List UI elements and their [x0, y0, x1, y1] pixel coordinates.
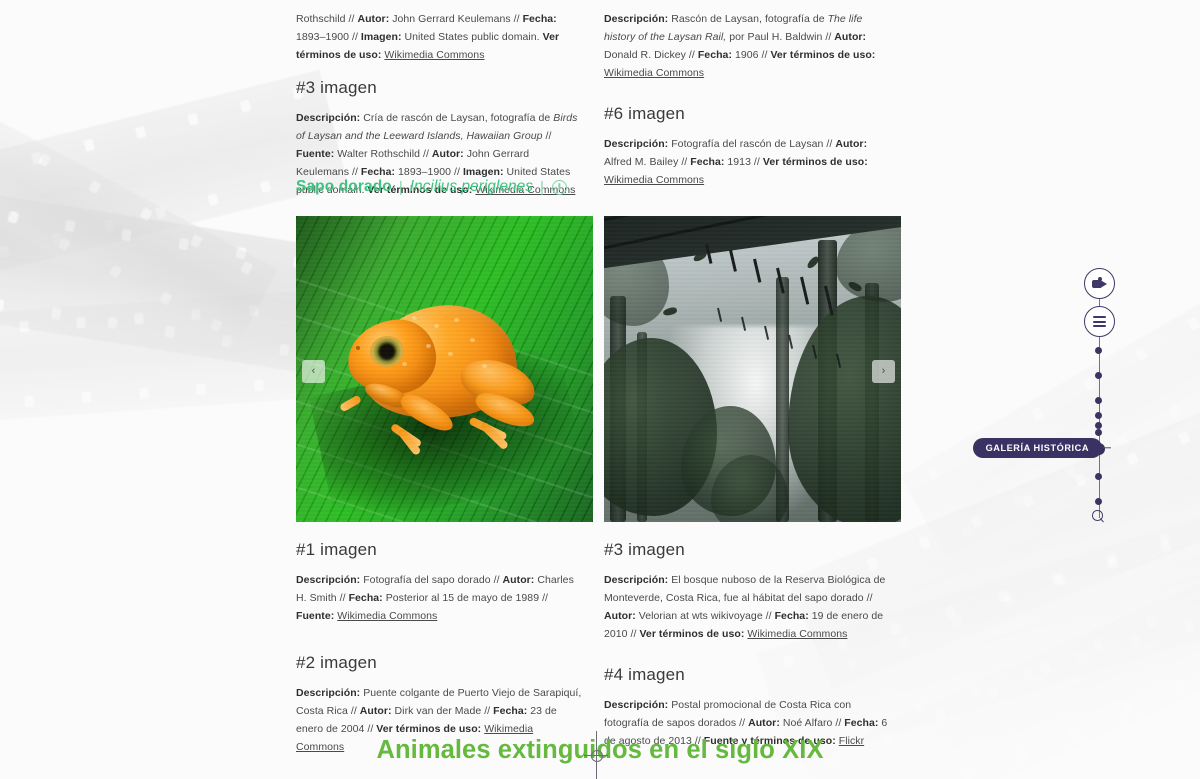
- autor-label: Autor:: [357, 13, 389, 25]
- filmstrip-shape: [0, 81, 278, 350]
- autor-label: Autor:: [503, 574, 535, 586]
- descripcion-label: Descripción:: [296, 687, 360, 699]
- descripcion-label: Descripción:: [296, 574, 360, 586]
- fecha-label: Fecha:: [361, 166, 395, 178]
- timeline-dot[interactable]: [1095, 429, 1102, 436]
- timeline-dot[interactable]: [1095, 372, 1102, 379]
- heading-separator: |: [540, 179, 544, 196]
- imagen-label: Imagen:: [463, 166, 504, 178]
- autor-label: Autor:: [432, 148, 464, 160]
- fecha-label: Fecha:: [523, 13, 557, 25]
- image-heading: #3 imagen: [604, 540, 890, 560]
- top-caption-column-right: Descripción: Rascón de Laysan, fotografí…: [604, 10, 890, 203]
- info-circle-icon[interactable]: [552, 180, 567, 195]
- timeline-navigation: GALERÍA HISTÓRICA: [1046, 268, 1156, 518]
- caption-image-1: Descripción: Fotografía del sapo dorado …: [296, 571, 582, 625]
- imagen-label: Imagen:: [361, 31, 402, 43]
- menu-button[interactable]: [1084, 306, 1115, 337]
- image-heading: #2 imagen: [296, 653, 582, 673]
- timeline-dot[interactable]: [1095, 473, 1102, 480]
- caption-image-3: Descripción: El bosque nuboso de la Rese…: [604, 571, 890, 643]
- descripcion-label: Descripción:: [604, 138, 668, 150]
- wikimedia-commons-link[interactable]: Wikimedia Commons: [604, 67, 704, 79]
- autor-label: Autor:: [604, 610, 636, 622]
- image-heading: #6 imagen: [604, 104, 890, 124]
- image-heading: #4 imagen: [604, 665, 890, 685]
- wikimedia-commons-link[interactable]: Wikimedia Commons: [337, 610, 437, 622]
- hamburger-menu-icon: [1093, 316, 1106, 326]
- image-carousel: ‹: [296, 216, 906, 522]
- image-heading: #3 imagen: [296, 78, 582, 98]
- video-camera-icon: [1092, 279, 1107, 289]
- terminos-label: Ver términos de uso:: [763, 156, 868, 168]
- carousel-next-button[interactable]: ›: [872, 360, 895, 383]
- species-scientific-name: Incilius periglenes: [410, 178, 533, 196]
- golden-toad-photo: [296, 216, 593, 522]
- bottom-caption-column-right: #3 imagen Descripción: El bosque nuboso …: [604, 540, 890, 764]
- timeline-dot[interactable]: [1095, 397, 1102, 404]
- carousel-slide-cloud-forest[interactable]: ›: [604, 216, 901, 522]
- caption-image-6: Descripción: Fotografía del rascón de La…: [604, 135, 890, 189]
- top-caption-columns: Rothschild // Autor: John Gerrard Keulem…: [296, 10, 906, 150]
- autor-label: Autor:: [835, 138, 867, 150]
- caption-continued: Rothschild // Autor: John Gerrard Keulem…: [296, 10, 582, 64]
- fecha-label: Fecha:: [690, 156, 724, 168]
- descripcion-label: Descripción:: [604, 574, 668, 586]
- species-heading: Sapo dorado | Incilius periglenes |: [296, 178, 567, 196]
- carousel-slide-golden-toad[interactable]: ‹: [296, 216, 593, 522]
- bottom-caption-columns: #1 imagen Descripción: Fotografía del sa…: [296, 540, 906, 700]
- wikimedia-commons-link[interactable]: Wikimedia Commons: [384, 49, 484, 61]
- fecha-label: Fecha:: [844, 717, 878, 729]
- autor-label: Autor:: [360, 705, 392, 717]
- terminos-label: Ver términos de uso:: [376, 723, 481, 735]
- terminos-label: Ver términos de uso:: [639, 628, 744, 640]
- fuente-label: Fuente:: [296, 610, 334, 622]
- fecha-label: Fecha:: [493, 705, 527, 717]
- timeline-dot[interactable]: [1095, 498, 1102, 505]
- fecha-label: Fecha:: [775, 610, 809, 622]
- descripcion-label: Descripción:: [604, 699, 668, 711]
- autor-label: Autor:: [748, 717, 780, 729]
- fuente-label: Fuente:: [296, 148, 334, 160]
- video-camera-button[interactable]: [1084, 268, 1115, 299]
- autor-label: Autor:: [834, 31, 866, 43]
- toad-figure: [342, 290, 552, 460]
- heading-separator: |: [399, 179, 403, 196]
- wikimedia-commons-link[interactable]: Wikimedia Commons: [747, 628, 847, 640]
- wikimedia-commons-link[interactable]: Wikimedia Commons: [604, 174, 704, 186]
- timeline-active-label[interactable]: GALERÍA HISTÓRICA: [973, 438, 1102, 458]
- fecha-label: Fecha:: [698, 49, 732, 61]
- monteverde-cloud-forest-photo: [604, 216, 901, 522]
- search-icon[interactable]: [1092, 510, 1106, 524]
- timeline-dot[interactable]: [1095, 422, 1102, 429]
- timeline-dot[interactable]: [1095, 412, 1102, 419]
- section-title: Animales extinguidos en el siglo XIX: [0, 736, 1200, 765]
- descripcion-label: Descripción:: [604, 13, 668, 25]
- carousel-prev-button[interactable]: ‹: [302, 360, 325, 383]
- fecha-label: Fecha:: [349, 592, 383, 604]
- timeline-dot[interactable]: [1095, 347, 1102, 354]
- terminos-label: Ver términos de uso:: [770, 49, 875, 61]
- species-common-name: Sapo dorado: [296, 178, 392, 196]
- caption-continued: Descripción: Rascón de Laysan, fotografí…: [604, 10, 890, 82]
- image-heading: #1 imagen: [296, 540, 582, 560]
- descripcion-label: Descripción:: [296, 112, 360, 124]
